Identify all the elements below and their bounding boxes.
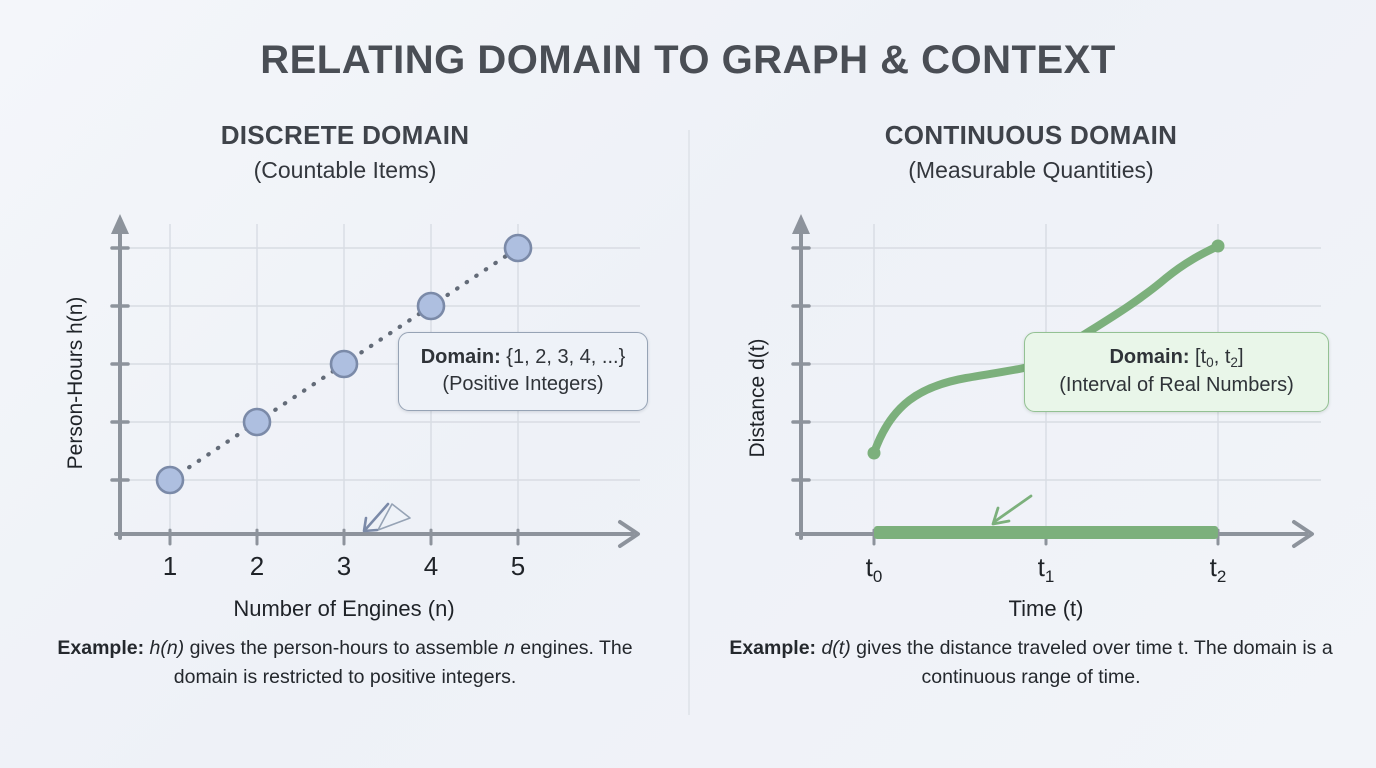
discrete-example-text: Example: h(n) gives the person-hours to … [28, 634, 662, 692]
discrete-heading: DISCRETE DOMAIN [20, 120, 670, 151]
data-point [505, 235, 531, 261]
example-label: Example: [57, 637, 144, 659]
x-tick-label: t1 [1038, 552, 1055, 586]
data-point [418, 293, 444, 319]
x-tick-labels: t0 t1 t2 [866, 552, 1227, 586]
discrete-x-axis-label: Number of Engines (n) [233, 596, 454, 621]
y-axis-arrow [792, 214, 810, 234]
curve-start-point [868, 447, 881, 460]
y-axis-arrow [111, 214, 129, 234]
example-function: d(t) [816, 637, 851, 659]
discrete-subheading: (Countable Items) [20, 157, 670, 184]
page-title: RELATING DOMAIN TO GRAPH & CONTEXT [0, 38, 1376, 83]
continuous-example-text: Example: d(t) gives the distance travele… [714, 634, 1348, 692]
callout-line-2: (Positive Integers) [415, 371, 631, 398]
example-label: Example: [729, 637, 816, 659]
data-point [331, 351, 357, 377]
example-body-1: gives the distance traveled over time t.… [851, 637, 1333, 688]
callout-bold-label: Domain: [421, 346, 501, 368]
data-point [244, 409, 270, 435]
callout-bold-label: Domain: [1109, 346, 1189, 368]
continuous-plot: t0 t1 t2 Distance d(t) Time (t) Domain: … [706, 208, 1356, 638]
domain-interval-bar [874, 526, 1218, 539]
continuous-subheading: (Measurable Quantities) [706, 157, 1356, 184]
callout-value: {1, 2, 3, 4, ...} [501, 346, 626, 368]
x-tick-label: 3 [337, 551, 351, 581]
continuous-y-axis-label: Distance d(t) [746, 338, 769, 457]
example-function: h(n) [144, 637, 184, 659]
panel-divider [688, 130, 690, 715]
data-point [157, 467, 183, 493]
callout-value: [t0, t2] [1189, 346, 1243, 368]
callout-arrow [993, 496, 1031, 524]
callout-line-2: (Interval of Real Numbers) [1041, 372, 1312, 399]
x-tick-label: t0 [866, 552, 883, 586]
continuous-domain-panel: CONTINUOUS DOMAIN (Measurable Quantities… [706, 120, 1356, 740]
discrete-domain-callout: Domain: {1, 2, 3, 4, ...} (Positive Inte… [398, 332, 648, 411]
callout-line-1: Domain: {1, 2, 3, 4, ...} [415, 344, 631, 371]
x-tick-label: t2 [1210, 552, 1227, 586]
x-tick-label: 2 [250, 551, 264, 581]
discrete-y-axis-label: Person-Hours h(n) [64, 297, 87, 470]
curve-end-point [1212, 240, 1225, 253]
continuous-heading: CONTINUOUS DOMAIN [706, 120, 1356, 151]
callout-tail [378, 504, 410, 530]
continuous-domain-callout: Domain: [t0, t2] (Interval of Real Numbe… [1024, 332, 1329, 412]
x-tick-label: 1 [163, 551, 177, 581]
discrete-domain-panel: DISCRETE DOMAIN (Countable Items) [20, 120, 670, 740]
example-body-1: gives the person-hours to assemble [184, 637, 504, 659]
discrete-plot: 1 2 3 4 5 Person-Hours h(n) Number of En… [20, 208, 670, 638]
continuous-x-axis-label: Time (t) [1009, 596, 1084, 621]
x-tick-label: 4 [424, 551, 438, 581]
example-variable: n [504, 637, 515, 659]
callout-line-1: Domain: [t0, t2] [1041, 344, 1312, 372]
x-tick-label: 5 [511, 551, 525, 581]
x-tick-labels: 1 2 3 4 5 [163, 551, 525, 581]
